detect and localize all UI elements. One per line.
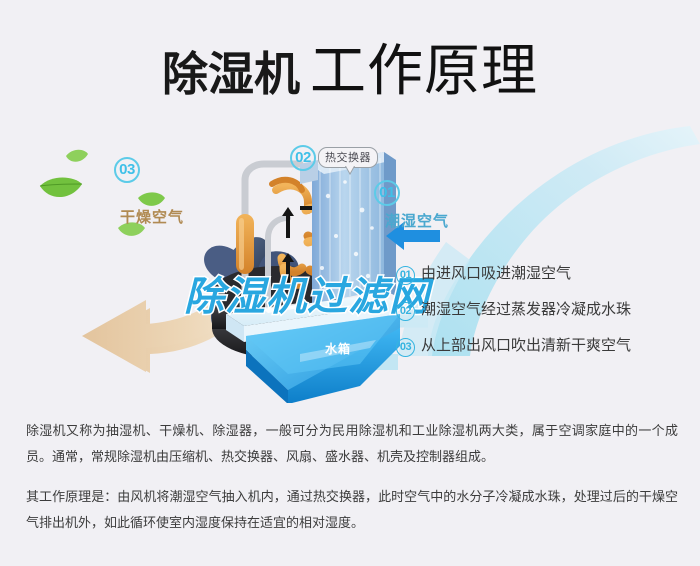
page-title-secondary: 工作原理 xyxy=(310,39,538,102)
diagram-ring-01: 01 xyxy=(374,180,400,206)
watermark: 除湿机过滤网 xyxy=(184,264,430,322)
step-text-02: 潮湿空气经过蒸发器冷凝成水珠 xyxy=(421,300,631,320)
diagram-ring-03: 03 xyxy=(114,157,140,183)
list-item: 02 潮湿空气经过蒸发器冷凝成水珠 xyxy=(396,300,696,321)
humid-air-label: 潮湿空气 xyxy=(385,210,449,231)
page-title-primary: 除湿机 xyxy=(162,48,300,100)
paragraph-1: 除湿机又称为抽湿机、干燥机、除湿器，一般可分为民用除湿机和工业除湿机两大类，属于… xyxy=(26,418,678,470)
step-text-03: 从上部出风口吹出清新干爽空气 xyxy=(421,336,631,356)
diagram-ring-02: 02 xyxy=(290,145,316,171)
paragraph-2: 其工作原理是：由风机将潮湿空气抽入机内，通过热交换器，此时空气中的水分子冷凝成水… xyxy=(26,484,678,536)
dry-air-label: 干燥空气 xyxy=(120,206,184,227)
step-text-01: 由进风口吸进潮湿空气 xyxy=(421,264,571,284)
body-copy: 除湿机又称为抽湿机、干燥机、除湿器，一般可分为民用除湿机和工业除湿机两大类，属于… xyxy=(26,418,678,536)
page-title: 除湿机工作原理 xyxy=(0,26,700,107)
water-tank-label: 水箱 xyxy=(325,340,351,357)
step-list: 01 由进风口吸进潮湿空气 02 潮湿空气经过蒸发器冷凝成水珠 03 从上部出风… xyxy=(396,264,696,372)
page-root: 除湿机工作原理 xyxy=(0,0,700,566)
step-badge-03: 03 xyxy=(396,338,415,357)
heat-exchanger-callout: 热交换器 xyxy=(318,147,378,168)
list-item: 03 从上部出风口吹出清新干爽空气 xyxy=(396,336,696,357)
step-badge-02: 02 xyxy=(396,302,415,321)
callout-pointer-icon xyxy=(345,166,355,175)
list-item: 01 由进风口吸进潮湿空气 xyxy=(396,264,696,285)
step-badge-01: 01 xyxy=(396,266,415,285)
